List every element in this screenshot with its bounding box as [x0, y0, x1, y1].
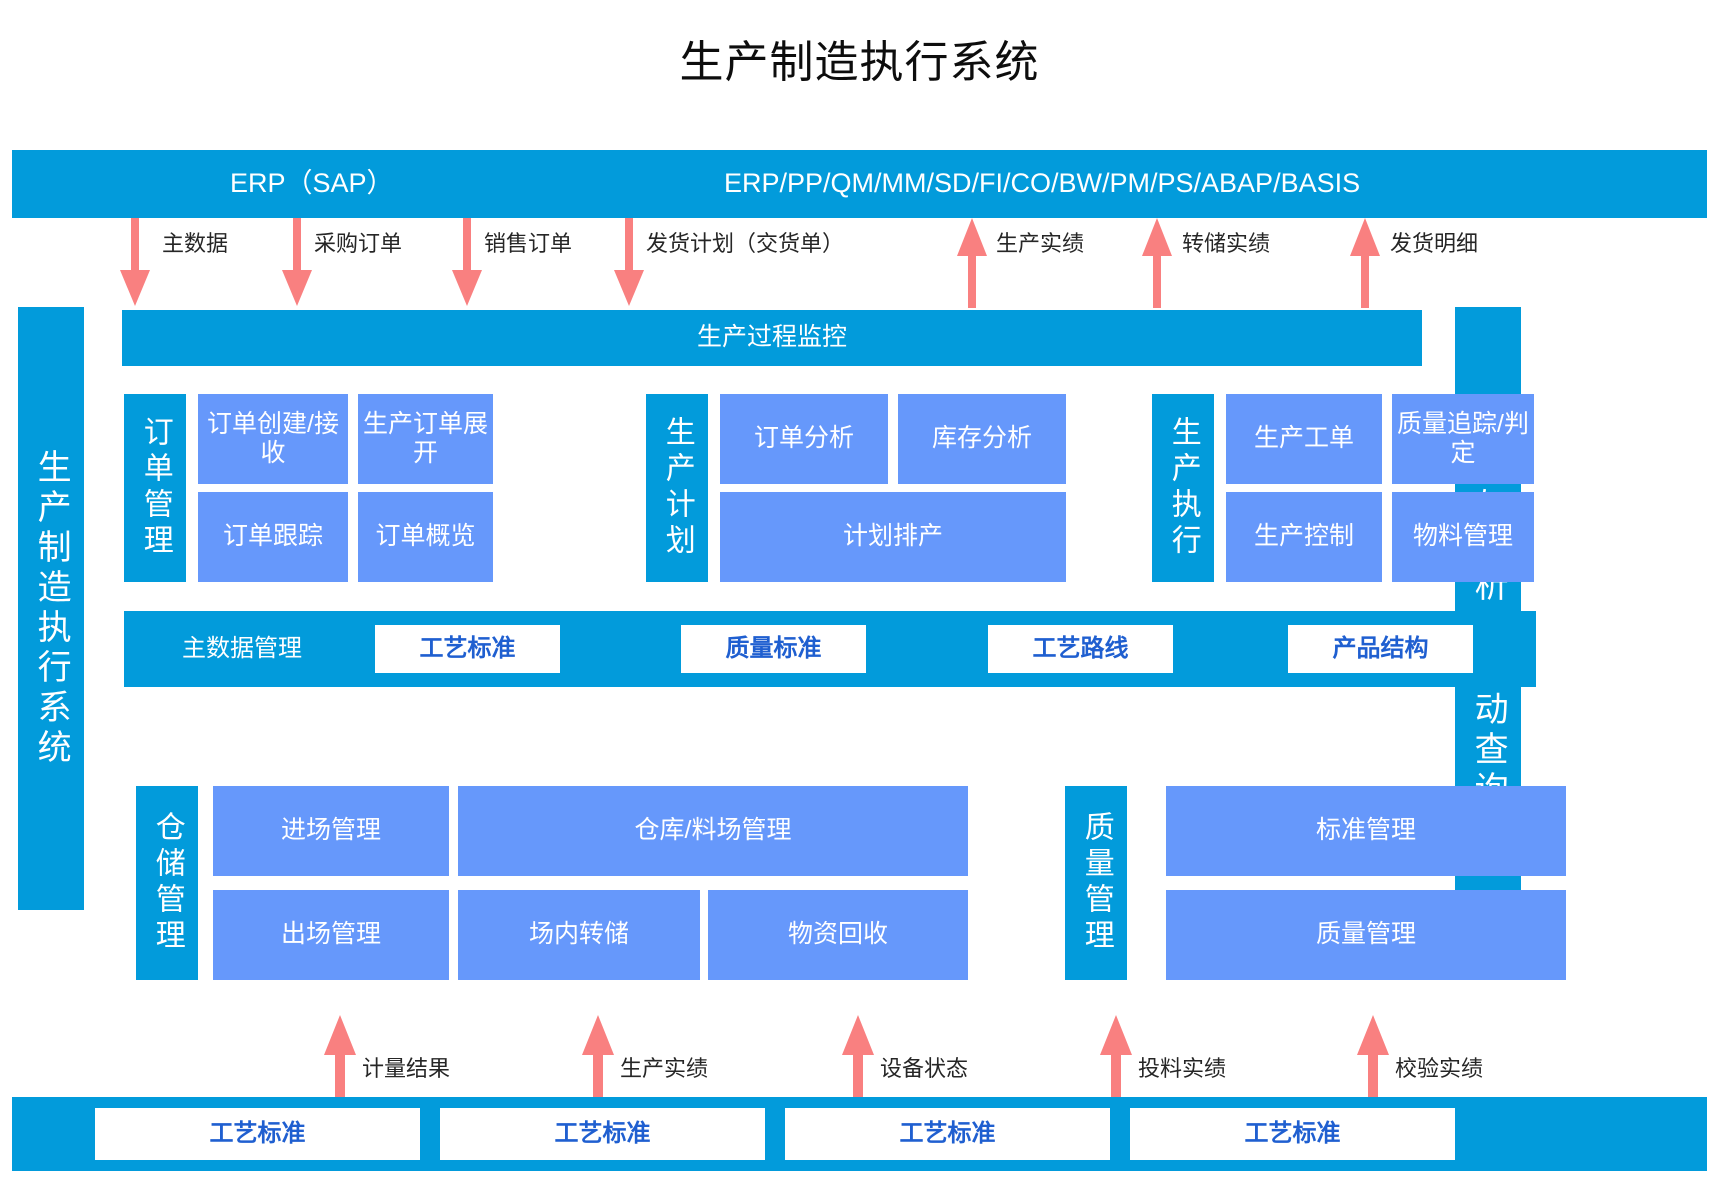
flow-arrow-down-delivery-plan	[612, 218, 646, 308]
tile-order-overview-label: 订单概览	[375, 522, 475, 552]
erp-bar: ERP（SAP） ERP/PP/QM/MM/SD/FI/CO/BW/PM/PS/…	[12, 150, 1707, 218]
tile-production-control[interactable]: 生产控制	[1226, 492, 1382, 582]
bottom-chip-process-standard-1-label: 工艺标准	[210, 1120, 306, 1148]
chip-quality-standard-label: 质量标准	[726, 635, 822, 663]
tile-warehouse-yard-management-label: 仓库/料场管理	[635, 816, 792, 846]
flow-label-sales-order: 销售订单	[484, 226, 572, 258]
tile-material-recycling-label: 物资回收	[788, 920, 888, 950]
flow-arrow-up-inspection-result	[1355, 1015, 1391, 1107]
flow-arrow-up-feeding-result	[1098, 1015, 1134, 1107]
chip-product-structure-label: 产品结构	[1333, 635, 1429, 663]
tile-inbound-management-label: 进场管理	[281, 816, 381, 846]
group-label-warehouse-management: 仓储管理	[136, 786, 198, 980]
tile-production-work-order[interactable]: 生产工单	[1226, 394, 1382, 484]
diagram-canvas: 生产制造执行系统 ERP（SAP） ERP/PP/QM/MM/SD/FI/CO/…	[0, 0, 1719, 1195]
group-label-production-plan-text: 生产计划	[659, 416, 694, 560]
tile-inbound-management[interactable]: 进场管理	[213, 786, 449, 876]
tile-plan-scheduling[interactable]: 计划排产	[720, 492, 1066, 582]
bottom-chip-process-standard-3[interactable]: 工艺标准	[785, 1108, 1110, 1160]
production-monitoring-label: 生产过程监控	[697, 323, 847, 353]
page-title: 生产制造执行系统	[0, 26, 1719, 90]
tile-order-tracking[interactable]: 订单跟踪	[198, 492, 348, 582]
flow-arrow-up-production-result-bottom	[580, 1015, 616, 1107]
flow-label-main-data: 主数据	[162, 226, 228, 258]
erp-left-label: ERP（SAP）	[230, 168, 394, 200]
group-label-production-plan: 生产计划	[646, 394, 708, 582]
tile-order-analysis[interactable]: 订单分析	[720, 394, 888, 484]
flow-label-metering-result: 计量结果	[362, 1051, 450, 1083]
tile-outbound-management[interactable]: 出场管理	[213, 890, 449, 980]
flow-arrow-up-delivery-detail	[1348, 218, 1382, 308]
flow-label-delivery-plan: 发货计划（交货单）	[646, 226, 844, 258]
master-data-label-text: 主数据管理	[182, 635, 302, 663]
tile-plan-scheduling-label: 计划排产	[843, 522, 943, 552]
tile-order-analysis-label: 订单分析	[754, 424, 854, 454]
chip-process-standard[interactable]: 工艺标准	[375, 625, 560, 673]
chip-quality-standard[interactable]: 质量标准	[681, 625, 866, 673]
bottom-chip-process-standard-2[interactable]: 工艺标准	[440, 1108, 765, 1160]
flow-label-production-result: 生产实绩	[996, 226, 1084, 258]
group-label-quality-management: 质量管理	[1065, 786, 1127, 980]
flow-label-feeding-result: 投料实绩	[1138, 1051, 1226, 1083]
tile-material-management-label: 物料管理	[1413, 522, 1513, 552]
sidebar-left-mes: 生产制造执行系统	[18, 307, 84, 910]
tile-production-work-order-label: 生产工单	[1254, 424, 1354, 454]
group-label-warehouse-management-text: 仓储管理	[149, 811, 184, 955]
tile-order-create-receive-label: 订单创建/接收	[198, 410, 348, 469]
tile-quality-management-label: 质量管理	[1316, 920, 1416, 950]
flow-arrow-up-metering-result	[322, 1015, 358, 1107]
tile-internal-transfer[interactable]: 场内转储	[458, 890, 700, 980]
flow-arrow-down-main-data	[118, 218, 152, 308]
tile-standard-management[interactable]: 标准管理	[1166, 786, 1566, 876]
chip-process-route-label: 工艺路线	[1033, 635, 1129, 663]
tile-production-control-label: 生产控制	[1254, 522, 1354, 552]
chip-product-structure[interactable]: 产品结构	[1288, 625, 1473, 673]
bottom-chip-process-standard-1[interactable]: 工艺标准	[95, 1108, 420, 1160]
bottom-chip-process-standard-4[interactable]: 工艺标准	[1130, 1108, 1455, 1160]
bottom-chip-process-standard-2-label: 工艺标准	[555, 1120, 651, 1148]
tile-quality-trace-judgement[interactable]: 质量追踪/判定	[1392, 394, 1534, 484]
group-label-production-execution: 生产执行	[1152, 394, 1214, 582]
tile-inventory-analysis[interactable]: 库存分析	[898, 394, 1066, 484]
group-label-quality-management-text: 质量管理	[1078, 811, 1113, 955]
production-monitoring-bar: 生产过程监控	[122, 310, 1422, 366]
tile-production-order-expand-label: 生产订单展开	[358, 410, 493, 469]
group-label-order-management-text: 订单管理	[137, 416, 172, 560]
flow-arrow-up-transfer-result	[1140, 218, 1174, 308]
flow-label-equipment-status: 设备状态	[880, 1051, 968, 1083]
tile-order-tracking-label: 订单跟踪	[223, 522, 323, 552]
bottom-chip-process-standard-3-label: 工艺标准	[900, 1120, 996, 1148]
tile-warehouse-yard-management[interactable]: 仓库/料场管理	[458, 786, 968, 876]
tile-outbound-management-label: 出场管理	[281, 920, 381, 950]
tile-quality-management[interactable]: 质量管理	[1166, 890, 1566, 980]
tile-internal-transfer-label: 场内转储	[529, 920, 629, 950]
tile-order-create-receive[interactable]: 订单创建/接收	[198, 394, 348, 484]
bottom-chip-process-standard-4-label: 工艺标准	[1245, 1120, 1341, 1148]
chip-process-route[interactable]: 工艺路线	[988, 625, 1173, 673]
tile-material-recycling[interactable]: 物资回收	[708, 890, 968, 980]
flow-label-purchase-order: 采购订单	[314, 226, 402, 258]
chip-process-standard-label: 工艺标准	[420, 635, 516, 663]
flow-arrow-down-sales-order	[450, 218, 484, 308]
flow-label-delivery-detail: 发货明细	[1390, 226, 1478, 258]
flow-arrow-up-production-result	[955, 218, 989, 308]
tile-inventory-analysis-label: 库存分析	[932, 424, 1032, 454]
flow-label-transfer-result: 转储实绩	[1182, 226, 1270, 258]
group-label-order-management: 订单管理	[124, 394, 186, 582]
erp-right-label: ERP/PP/QM/MM/SD/FI/CO/BW/PM/PS/ABAP/BASI…	[724, 168, 1360, 200]
group-label-production-execution-text: 生产执行	[1165, 416, 1200, 560]
tile-quality-trace-judgement-label: 质量追踪/判定	[1392, 410, 1534, 469]
tile-order-overview[interactable]: 订单概览	[358, 492, 493, 582]
flow-arrow-down-purchase-order	[280, 218, 314, 308]
flow-arrow-up-equipment-status	[840, 1015, 876, 1107]
tile-standard-management-label: 标准管理	[1316, 816, 1416, 846]
sidebar-left-label: 生产制造执行系统	[31, 449, 71, 769]
tile-production-order-expand[interactable]: 生产订单展开	[358, 394, 493, 484]
flow-label-inspection-result: 校验实绩	[1395, 1051, 1483, 1083]
flow-label-production-result-bottom: 生产实绩	[620, 1051, 708, 1083]
master-data-label: 主数据管理	[152, 625, 332, 673]
tile-material-management[interactable]: 物料管理	[1392, 492, 1534, 582]
